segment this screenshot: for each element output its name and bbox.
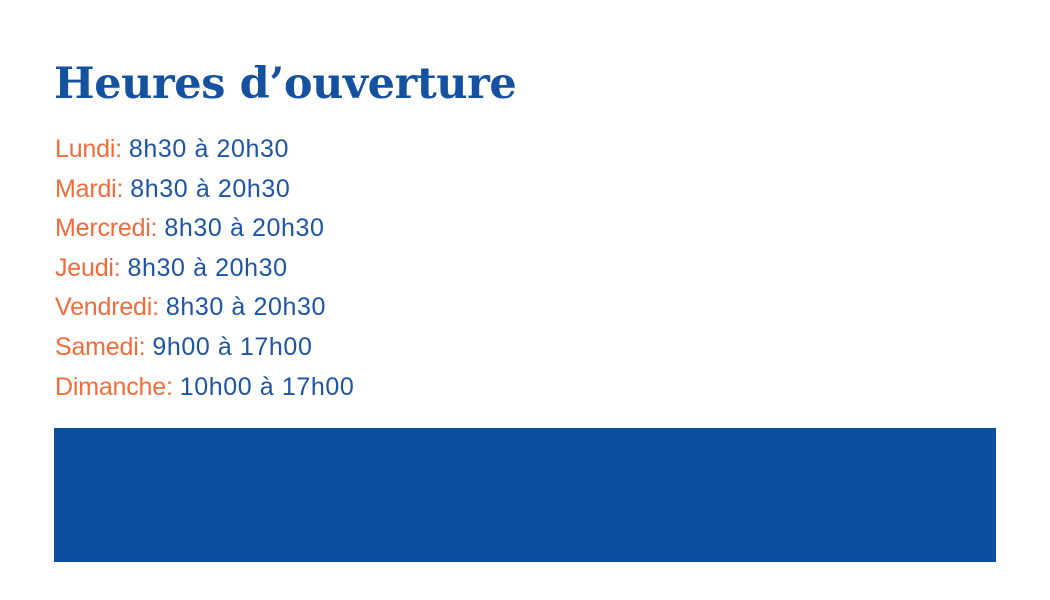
day-label-dimanche: Dimanche: [55,373,173,401]
list-item: Mercredi:8h30 à 20h30 [55,209,675,249]
day-hours-dimanche: 10h00 à 17h00 [180,373,355,401]
list-item: Jeudi:8h30 à 20h30 [55,249,675,289]
day-hours-vendredi: 8h30 à 20h30 [166,293,326,321]
day-label-mardi: Mardi: [55,175,123,203]
day-hours-jeudi: 8h30 à 20h30 [128,254,288,282]
day-hours-mercredi: 8h30 à 20h30 [164,214,324,242]
day-label-jeudi: Jeudi: [55,254,121,282]
list-item: Dimanche:10h00 à 17h00 [55,368,675,408]
day-hours-mardi: 8h30 à 20h30 [130,175,290,203]
day-label-mercredi: Mercredi: [55,214,157,242]
day-hours-samedi: 9h00 à 17h00 [152,333,312,361]
list-item: Lundi:8h30 à 20h30 [55,130,675,170]
opening-hours-list: Lundi:8h30 à 20h30 Mardi:8h30 à 20h30 Me… [55,130,675,407]
list-item: Samedi:9h00 à 17h00 [55,328,675,368]
day-label-lundi: Lundi: [55,135,122,163]
day-label-samedi: Samedi: [55,333,145,361]
blue-banner-bar [54,428,996,562]
page-title: Heures d’ouverture [54,58,516,110]
list-item: Vendredi:8h30 à 20h30 [55,288,675,328]
slide-canvas: Heures d’ouverture Lundi:8h30 à 20h30 Ma… [0,0,1050,600]
list-item: Mardi:8h30 à 20h30 [55,170,675,210]
day-label-vendredi: Vendredi: [55,293,159,321]
day-hours-lundi: 8h30 à 20h30 [129,135,289,163]
